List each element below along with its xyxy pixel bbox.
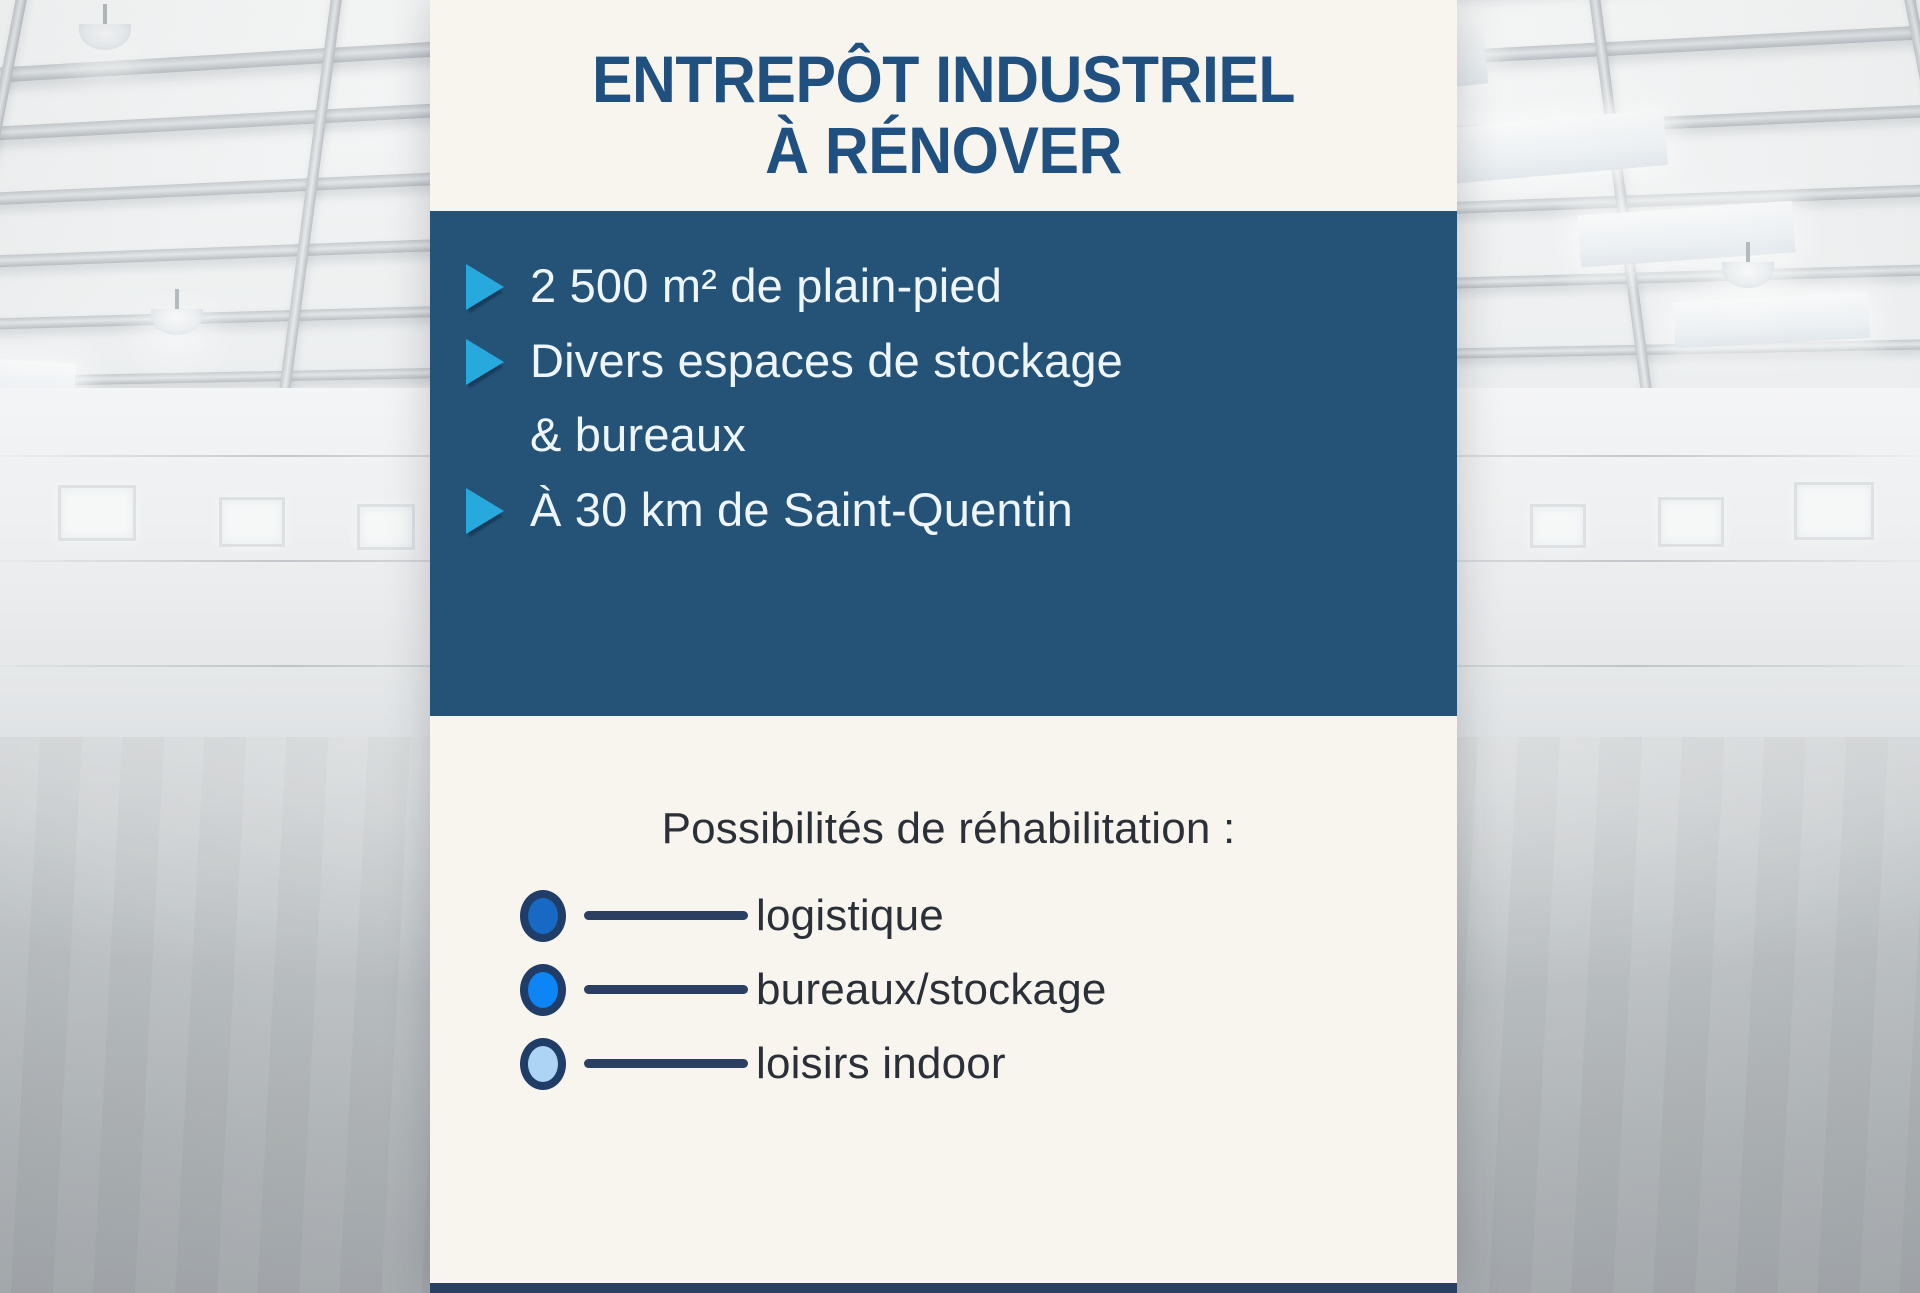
feature-text: 2 500 m² de plain-pied bbox=[530, 255, 1002, 318]
wall-window bbox=[58, 485, 136, 541]
pendant-lamp bbox=[79, 24, 131, 50]
feature-item: Divers espaces de stockage bbox=[460, 330, 1411, 393]
legend-line-icon bbox=[584, 985, 748, 994]
feature-item: 2 500 m² de plain-pied bbox=[460, 255, 1411, 318]
wall-window bbox=[1794, 482, 1874, 540]
legend-row-logistique: logistique bbox=[520, 890, 1417, 942]
wall-window bbox=[219, 497, 285, 547]
feature-item-continuation: & bureaux bbox=[460, 404, 1411, 467]
legend-label: logistique bbox=[756, 891, 944, 941]
legend-title: Possibilités de réhabilitation : bbox=[470, 804, 1417, 854]
wall-window bbox=[1530, 504, 1586, 548]
legend-line-icon bbox=[584, 1059, 748, 1068]
triangle-right-icon bbox=[460, 255, 516, 317]
wall-window bbox=[357, 504, 415, 550]
bottom-accent-bar bbox=[430, 1283, 1457, 1293]
legend-rows: logistique bureaux/stockage loisirs indo… bbox=[470, 890, 1417, 1090]
poster-canvas: ENTREPÔT INDUSTRIEL À RÉNOVER 2 500 m² d… bbox=[0, 0, 1920, 1293]
feature-text: Divers espaces de stockage bbox=[530, 330, 1123, 393]
skylight-panel bbox=[1434, 109, 1668, 185]
legend-label: bureaux/stockage bbox=[756, 965, 1107, 1015]
legend-label: loisirs indoor bbox=[756, 1039, 1006, 1089]
triangle-right-icon bbox=[460, 330, 516, 392]
wall-window bbox=[1658, 497, 1724, 547]
features-panel: 2 500 m² de plain-pied Divers espaces de… bbox=[430, 211, 1457, 716]
legend-block: Possibilités de réhabilitation : logisti… bbox=[430, 716, 1457, 1293]
legend-dot-icon bbox=[520, 1038, 566, 1090]
legend-dot-icon bbox=[520, 964, 566, 1016]
legend-row-loisirs-indoor: loisirs indoor bbox=[520, 1038, 1417, 1090]
page-title-line-2: À RÉNOVER bbox=[508, 115, 1379, 186]
feature-item: À 30 km de Saint-Quentin bbox=[460, 479, 1411, 542]
title-block: ENTREPÔT INDUSTRIEL À RÉNOVER bbox=[430, 0, 1457, 211]
listing-card: ENTREPÔT INDUSTRIEL À RÉNOVER 2 500 m² d… bbox=[430, 0, 1457, 1293]
legend-dot-icon bbox=[520, 890, 566, 942]
triangle-right-icon bbox=[460, 479, 516, 541]
pendant-lamp bbox=[1722, 262, 1774, 288]
feature-text: À 30 km de Saint-Quentin bbox=[530, 479, 1073, 542]
legend-row-bureaux-stockage: bureaux/stockage bbox=[520, 964, 1417, 1016]
legend-line-icon bbox=[584, 911, 748, 920]
pendant-lamp bbox=[151, 309, 203, 335]
skylight-panel bbox=[1577, 201, 1795, 268]
feature-text: & bureaux bbox=[530, 404, 746, 467]
page-title-line-1: ENTREPÔT INDUSTRIEL bbox=[508, 44, 1379, 115]
feature-list: 2 500 m² de plain-pied Divers espaces de… bbox=[460, 255, 1411, 543]
